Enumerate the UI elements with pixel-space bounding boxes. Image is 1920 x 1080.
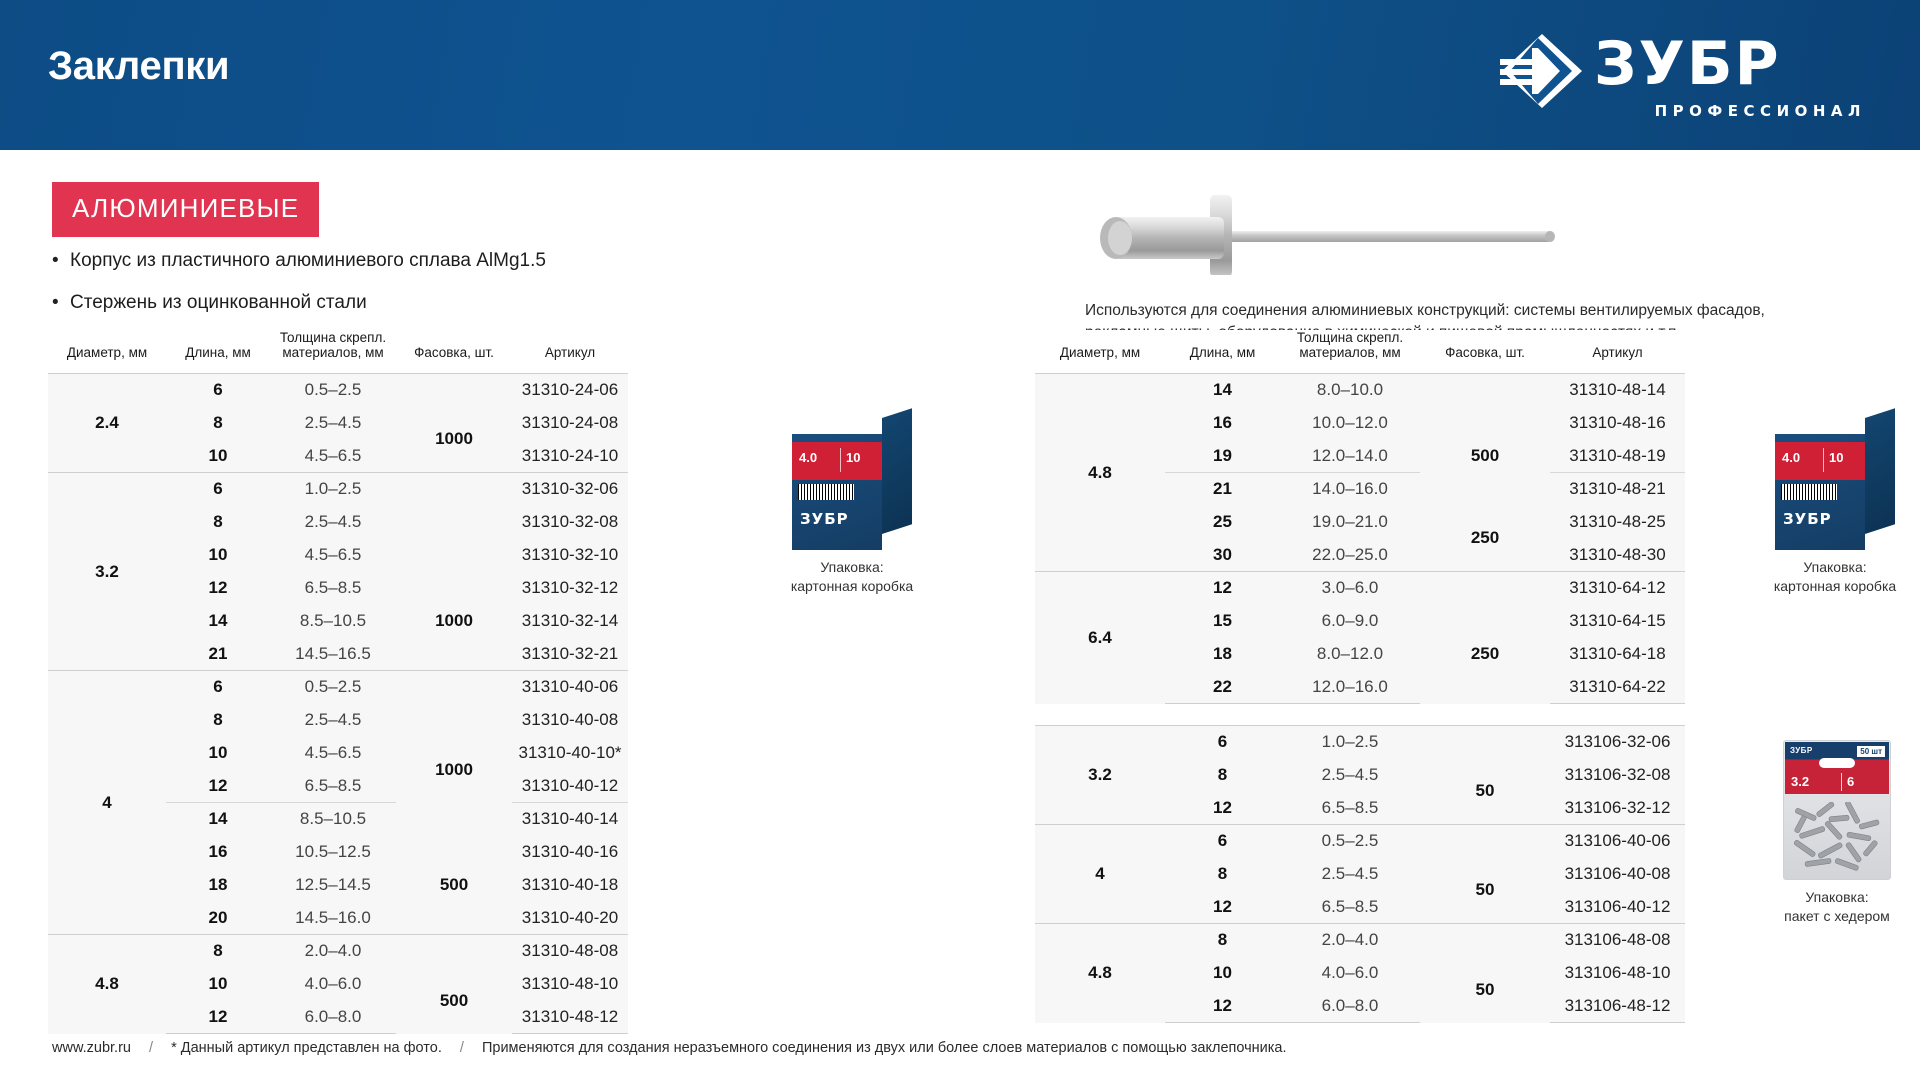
column-header-article: Артикул	[512, 330, 628, 374]
cell-article: 31310-40-14	[512, 803, 628, 836]
cell-article: 31310-48-25	[1550, 506, 1685, 539]
cell-thickness: 14.5–16.5	[270, 638, 396, 671]
cell-pack	[1420, 726, 1550, 759]
cell-article: 313106-48-12	[1550, 990, 1685, 1023]
cell-thickness: 6.0–8.0	[270, 1001, 396, 1034]
column-header-pack: Фасовка, шт.	[1420, 330, 1550, 374]
cell-article: 31310-32-06	[512, 473, 628, 506]
cell-diameter: 4.8	[48, 935, 166, 1034]
cell-thickness: 4.5–6.5	[270, 737, 396, 770]
cell-article: 31310-48-21	[1550, 473, 1685, 506]
cell-length: 14	[166, 803, 270, 836]
cell-length: 10	[166, 737, 270, 770]
cell-thickness: 6.5–8.5	[270, 572, 396, 605]
rivets-pile-icon	[1789, 802, 1885, 874]
cell-length: 12	[1165, 572, 1280, 605]
cell-length: 6	[1165, 825, 1280, 858]
cell-article: 31310-64-18	[1550, 638, 1685, 671]
cell-length: 22	[1165, 671, 1280, 704]
footer-site-link[interactable]: www.zubr.ru	[52, 1040, 131, 1056]
cell-thickness: 12.5–14.5	[270, 869, 396, 902]
cell-thickness: 8.5–10.5	[270, 605, 396, 638]
bullet-dot-icon: •	[52, 248, 70, 274]
cell-pack	[396, 473, 512, 572]
cell-pack	[396, 374, 512, 407]
column-header-thickness: Толщина скрепл.материалов, мм	[1280, 330, 1420, 374]
cell-article: 31310-32-08	[512, 506, 628, 539]
cell-thickness: 3.0–6.0	[1280, 572, 1420, 605]
cell-article: 31310-40-12	[512, 770, 628, 803]
cell-thickness: 2.0–4.0	[1280, 924, 1420, 957]
table-header-row: Диаметр, мм Длина, мм Толщина скрепл.мат…	[1035, 330, 1685, 374]
column-header-diameter: Диаметр, мм	[1035, 330, 1165, 374]
cell-thickness: 8.5–10.5	[270, 803, 396, 836]
column-header-diameter: Диаметр, мм	[48, 330, 166, 374]
table-row: 6.4123.0–6.031310-64-12	[1035, 572, 1685, 605]
cell-diameter: 4.8	[1035, 924, 1165, 1023]
package-figure-bag: ЗУБР 50 шт 3.2 6 Упаковка: пакет с хедер…	[1752, 740, 1920, 926]
cell-thickness: 6.0–9.0	[1280, 605, 1420, 638]
cell-thickness: 0.5–2.5	[1280, 825, 1420, 858]
cell-article: 313106-32-08	[1550, 759, 1685, 792]
cell-article: 31310-32-14	[512, 605, 628, 638]
cell-length: 6	[166, 671, 270, 704]
cell-article: 31310-48-12	[512, 1001, 628, 1034]
cell-pack: 50	[1420, 858, 1550, 924]
box-label-diameter: 4.0	[1782, 450, 1800, 465]
cell-article: 31310-40-16	[512, 836, 628, 869]
cell-article: 31310-48-30	[1550, 539, 1685, 572]
box-label-length: 10	[1829, 450, 1843, 465]
column-header-thickness: Толщина скрепл.материалов, мм	[270, 330, 396, 374]
table-row: 4.882.0–4.031310-48-08	[48, 935, 628, 968]
cell-length: 8	[1165, 759, 1280, 792]
cell-article: 31310-48-16	[1550, 407, 1685, 440]
bag-qty-label: 50 шт	[1857, 746, 1885, 757]
column-header-pack: Фасовка, шт.	[396, 330, 512, 374]
cell-article: 31310-24-08	[512, 407, 628, 440]
cell-thickness: 4.5–6.5	[270, 440, 396, 473]
list-item: • Стержень из оцинкованной стали	[52, 290, 692, 316]
brand-wordmark: ЗУБР	[1594, 28, 1781, 100]
table-body: 4.8148.0–10.031310-48-141610.0–12.050031…	[1035, 374, 1685, 704]
package-figure-box-right: 4.0 10 ЗУБР Упаковка: картонная коробка	[1745, 418, 1920, 596]
table-row: 4.882.0–4.0313106-48-08	[1035, 924, 1685, 957]
bullet-dot-icon: •	[52, 290, 70, 316]
cell-thickness: 12.0–16.0	[1280, 671, 1420, 704]
brand-logo: ЗУБР ПРОФЕССИОНАЛ	[1498, 28, 1868, 124]
cell-article: 313106-40-08	[1550, 858, 1685, 891]
cell-length: 16	[1165, 407, 1280, 440]
box-brand-label: ЗУБР	[1783, 510, 1832, 528]
cell-diameter: 4.8	[1035, 374, 1165, 572]
cell-length: 18	[166, 869, 270, 902]
cell-length: 18	[1165, 638, 1280, 671]
feature-text: Стержень из оцинкованной стали	[70, 290, 367, 316]
cell-article: 313106-40-12	[1550, 891, 1685, 924]
cell-article: 31310-24-10	[512, 440, 628, 473]
cell-diameter: 6.4	[1035, 572, 1165, 704]
cell-article: 31310-48-14	[1550, 374, 1685, 407]
cell-length: 10	[1165, 957, 1280, 990]
cell-pack	[1420, 572, 1550, 605]
cell-thickness: 19.0–21.0	[1280, 506, 1420, 539]
brand-tagline: ПРОФЕССИОНАЛ	[1655, 102, 1866, 120]
zubr-arrow-icon	[1498, 34, 1582, 108]
box-brand-label: ЗУБР	[800, 510, 849, 528]
cell-thickness: 10.5–12.5	[270, 836, 396, 869]
package-caption: Упаковка: пакет с хедером	[1752, 888, 1920, 926]
page-title: Заклепки	[48, 44, 229, 89]
bag-brand-label: ЗУБР	[1790, 746, 1813, 755]
cell-article: 31310-48-19	[1550, 440, 1685, 473]
cell-article: 31310-48-10	[512, 968, 628, 1001]
footer-separator: /	[135, 1040, 167, 1056]
cell-pack: 50	[1420, 957, 1550, 1023]
cell-article: 31310-40-20	[512, 902, 628, 935]
cell-article: 31310-32-12	[512, 572, 628, 605]
cell-article: 31310-32-21	[512, 638, 628, 671]
cell-length: 12	[1165, 990, 1280, 1023]
cell-thickness: 8.0–10.0	[1280, 374, 1420, 407]
table-aluminium-right-top: Диаметр, мм Длина, мм Толщина скрепл.мат…	[1035, 330, 1685, 704]
cell-pack: 1000	[396, 407, 512, 473]
euro-hole-icon	[1819, 758, 1855, 768]
cell-thickness: 6.5–8.5	[270, 770, 396, 803]
table-row: 4.8148.0–10.031310-48-14	[1035, 374, 1685, 407]
page-header: Заклепки ЗУБР ПРОФЕССИОНАЛ	[0, 0, 1920, 150]
cell-diameter: 4	[48, 671, 166, 935]
cell-thickness: 6.0–8.0	[1280, 990, 1420, 1023]
box-label-diameter: 4.0	[799, 450, 817, 465]
cell-length: 8	[166, 407, 270, 440]
cell-length: 10	[166, 440, 270, 473]
feature-text: Корпус из пластичного алюминиевого сплав…	[70, 248, 546, 274]
table-aluminium-right-bottom: 3.261.0–2.5313106-32-0682.5–4.550313106-…	[1035, 725, 1685, 1023]
cell-length: 12	[1165, 792, 1280, 825]
cell-length: 21	[1165, 473, 1280, 506]
package-figure-box-left: 4.0 10 ЗУБР Упаковка: картонная коробка	[762, 418, 942, 596]
bag-label-length: 6	[1847, 774, 1854, 789]
cell-thickness: 0.5–2.5	[270, 374, 396, 407]
cell-length: 8	[166, 935, 270, 968]
table-header-row: Диаметр, мм Длина, мм Толщина скрепл.мат…	[48, 330, 628, 374]
cell-length: 8	[166, 704, 270, 737]
cell-article: 313106-48-10	[1550, 957, 1685, 990]
cell-article: 31310-40-10*	[512, 737, 628, 770]
cell-thickness: 22.0–25.0	[1280, 539, 1420, 572]
table-body: 2.460.5–2.531310-24-0682.5–4.5100031310-…	[48, 374, 628, 1034]
cell-article: 31310-40-06	[512, 671, 628, 704]
cell-length: 10	[166, 968, 270, 1001]
cell-length: 6	[166, 473, 270, 506]
table-body: 3.261.0–2.5313106-32-0682.5–4.550313106-…	[1035, 726, 1685, 1023]
cell-thickness: 10.0–12.0	[1280, 407, 1420, 440]
cell-thickness: 6.5–8.5	[1280, 891, 1420, 924]
cell-length: 8	[1165, 858, 1280, 891]
cell-thickness: 8.0–12.0	[1280, 638, 1420, 671]
cell-pack	[396, 671, 512, 704]
cell-diameter: 4	[1035, 825, 1165, 924]
cell-thickness: 4.0–6.0	[1280, 957, 1420, 990]
bag-label-diameter: 3.2	[1791, 774, 1809, 789]
cell-article: 31310-24-06	[512, 374, 628, 407]
cell-length: 8	[166, 506, 270, 539]
cell-thickness: 4.0–6.0	[270, 968, 396, 1001]
header-bag-icon: ЗУБР 50 шт 3.2 6	[1783, 740, 1891, 880]
cell-article: 31310-32-10	[512, 539, 628, 572]
cell-pack	[396, 935, 512, 968]
cell-thickness: 2.5–4.5	[1280, 759, 1420, 792]
cell-pack	[1420, 374, 1550, 407]
cell-pack: 500	[396, 968, 512, 1034]
cell-length: 15	[1165, 605, 1280, 638]
cell-thickness: 14.0–16.0	[1280, 473, 1420, 506]
cell-length: 21	[166, 638, 270, 671]
cell-diameter: 2.4	[48, 374, 166, 473]
cell-thickness: 4.5–6.5	[270, 539, 396, 572]
cell-length: 10	[166, 539, 270, 572]
cell-article: 31310-64-12	[1550, 572, 1685, 605]
cell-article: 31310-64-22	[1550, 671, 1685, 704]
cell-length: 6	[166, 374, 270, 407]
column-header-article: Артикул	[1550, 330, 1685, 374]
cell-thickness: 14.5–16.0	[270, 902, 396, 935]
box-label-length: 10	[846, 450, 860, 465]
table-row: 3.261.0–2.5313106-32-06	[1035, 726, 1685, 759]
column-header-length: Длина, мм	[1165, 330, 1280, 374]
cell-thickness: 2.5–4.5	[270, 506, 396, 539]
cell-pack: 50	[1420, 759, 1550, 825]
cell-length: 20	[166, 902, 270, 935]
cell-length: 12	[166, 572, 270, 605]
table-row: 460.5–2.5313106-40-06	[1035, 825, 1685, 858]
table-row: 2.460.5–2.531310-24-06	[48, 374, 628, 407]
category-badge: АЛЮМИНИЕВЫЕ	[52, 182, 319, 237]
cell-pack	[1420, 825, 1550, 858]
cell-article: 31310-40-18	[512, 869, 628, 902]
cell-thickness: 12.0–14.0	[1280, 440, 1420, 473]
cell-article: 313106-40-06	[1550, 825, 1685, 858]
column-header-length: Длина, мм	[166, 330, 270, 374]
cell-article: 31310-48-08	[512, 935, 628, 968]
cell-length: 16	[166, 836, 270, 869]
cell-length: 19	[1165, 440, 1280, 473]
footer-note-photo: * Данный артикул представлен на фото.	[171, 1040, 442, 1056]
cell-length: 6	[1165, 726, 1280, 759]
table-aluminium-left: Диаметр, мм Длина, мм Толщина скрепл.мат…	[48, 330, 628, 1034]
cell-pack: 500	[1420, 407, 1550, 506]
cell-length: 14	[166, 605, 270, 638]
cell-length: 12	[1165, 891, 1280, 924]
cell-length: 14	[1165, 374, 1280, 407]
cell-article: 313106-32-12	[1550, 792, 1685, 825]
cardboard-box-icon: 4.0 10 ЗУБР	[792, 418, 912, 550]
cell-diameter: 3.2	[1035, 726, 1165, 825]
cell-pack: 250	[1420, 605, 1550, 704]
cell-article: 31310-64-15	[1550, 605, 1685, 638]
package-caption: Упаковка: картонная коробка	[762, 558, 942, 596]
cell-thickness: 0.5–2.5	[270, 671, 396, 704]
footer-note-usage: Применяются для создания неразъемного со…	[482, 1040, 1287, 1056]
cell-length: 30	[1165, 539, 1280, 572]
table-row: 460.5–2.531310-40-06	[48, 671, 628, 704]
cell-article: 313106-32-06	[1550, 726, 1685, 759]
rivet-illustration-icon	[1080, 175, 1580, 275]
cell-length: 12	[166, 1001, 270, 1034]
cell-pack: 1000	[396, 704, 512, 836]
package-caption: Упаковка: картонная коробка	[1745, 558, 1920, 596]
cardboard-box-icon: 4.0 10 ЗУБР	[1775, 418, 1895, 550]
cell-length: 12	[166, 770, 270, 803]
barcode-icon	[1781, 484, 1837, 500]
cell-diameter: 3.2	[48, 473, 166, 671]
barcode-icon	[798, 484, 854, 500]
footer-separator: /	[446, 1040, 478, 1056]
cell-pack	[1420, 924, 1550, 957]
cell-thickness: 2.0–4.0	[270, 935, 396, 968]
cell-pack: 500	[396, 836, 512, 935]
cell-thickness: 2.5–4.5	[270, 407, 396, 440]
table-row: 3.261.0–2.531310-32-06	[48, 473, 628, 506]
page-footer: www.zubr.ru / * Данный артикул представл…	[52, 1040, 1852, 1056]
cell-length: 25	[1165, 506, 1280, 539]
cell-length: 8	[1165, 924, 1280, 957]
cell-thickness: 1.0–2.5	[1280, 726, 1420, 759]
cell-thickness: 1.0–2.5	[270, 473, 396, 506]
datasheet-page: Заклепки ЗУБР ПРОФЕССИОНАЛ АЛЮМИНИЕВЫЕ •…	[0, 0, 1920, 1080]
cell-thickness: 2.5–4.5	[270, 704, 396, 737]
cell-article: 31310-40-08	[512, 704, 628, 737]
cell-pack: 1000	[396, 572, 512, 671]
cell-thickness: 6.5–8.5	[1280, 792, 1420, 825]
cell-article: 313106-48-08	[1550, 924, 1685, 957]
cell-pack: 250	[1420, 506, 1550, 572]
cell-thickness: 2.5–4.5	[1280, 858, 1420, 891]
list-item: • Корпус из пластичного алюминиевого спл…	[52, 248, 692, 274]
